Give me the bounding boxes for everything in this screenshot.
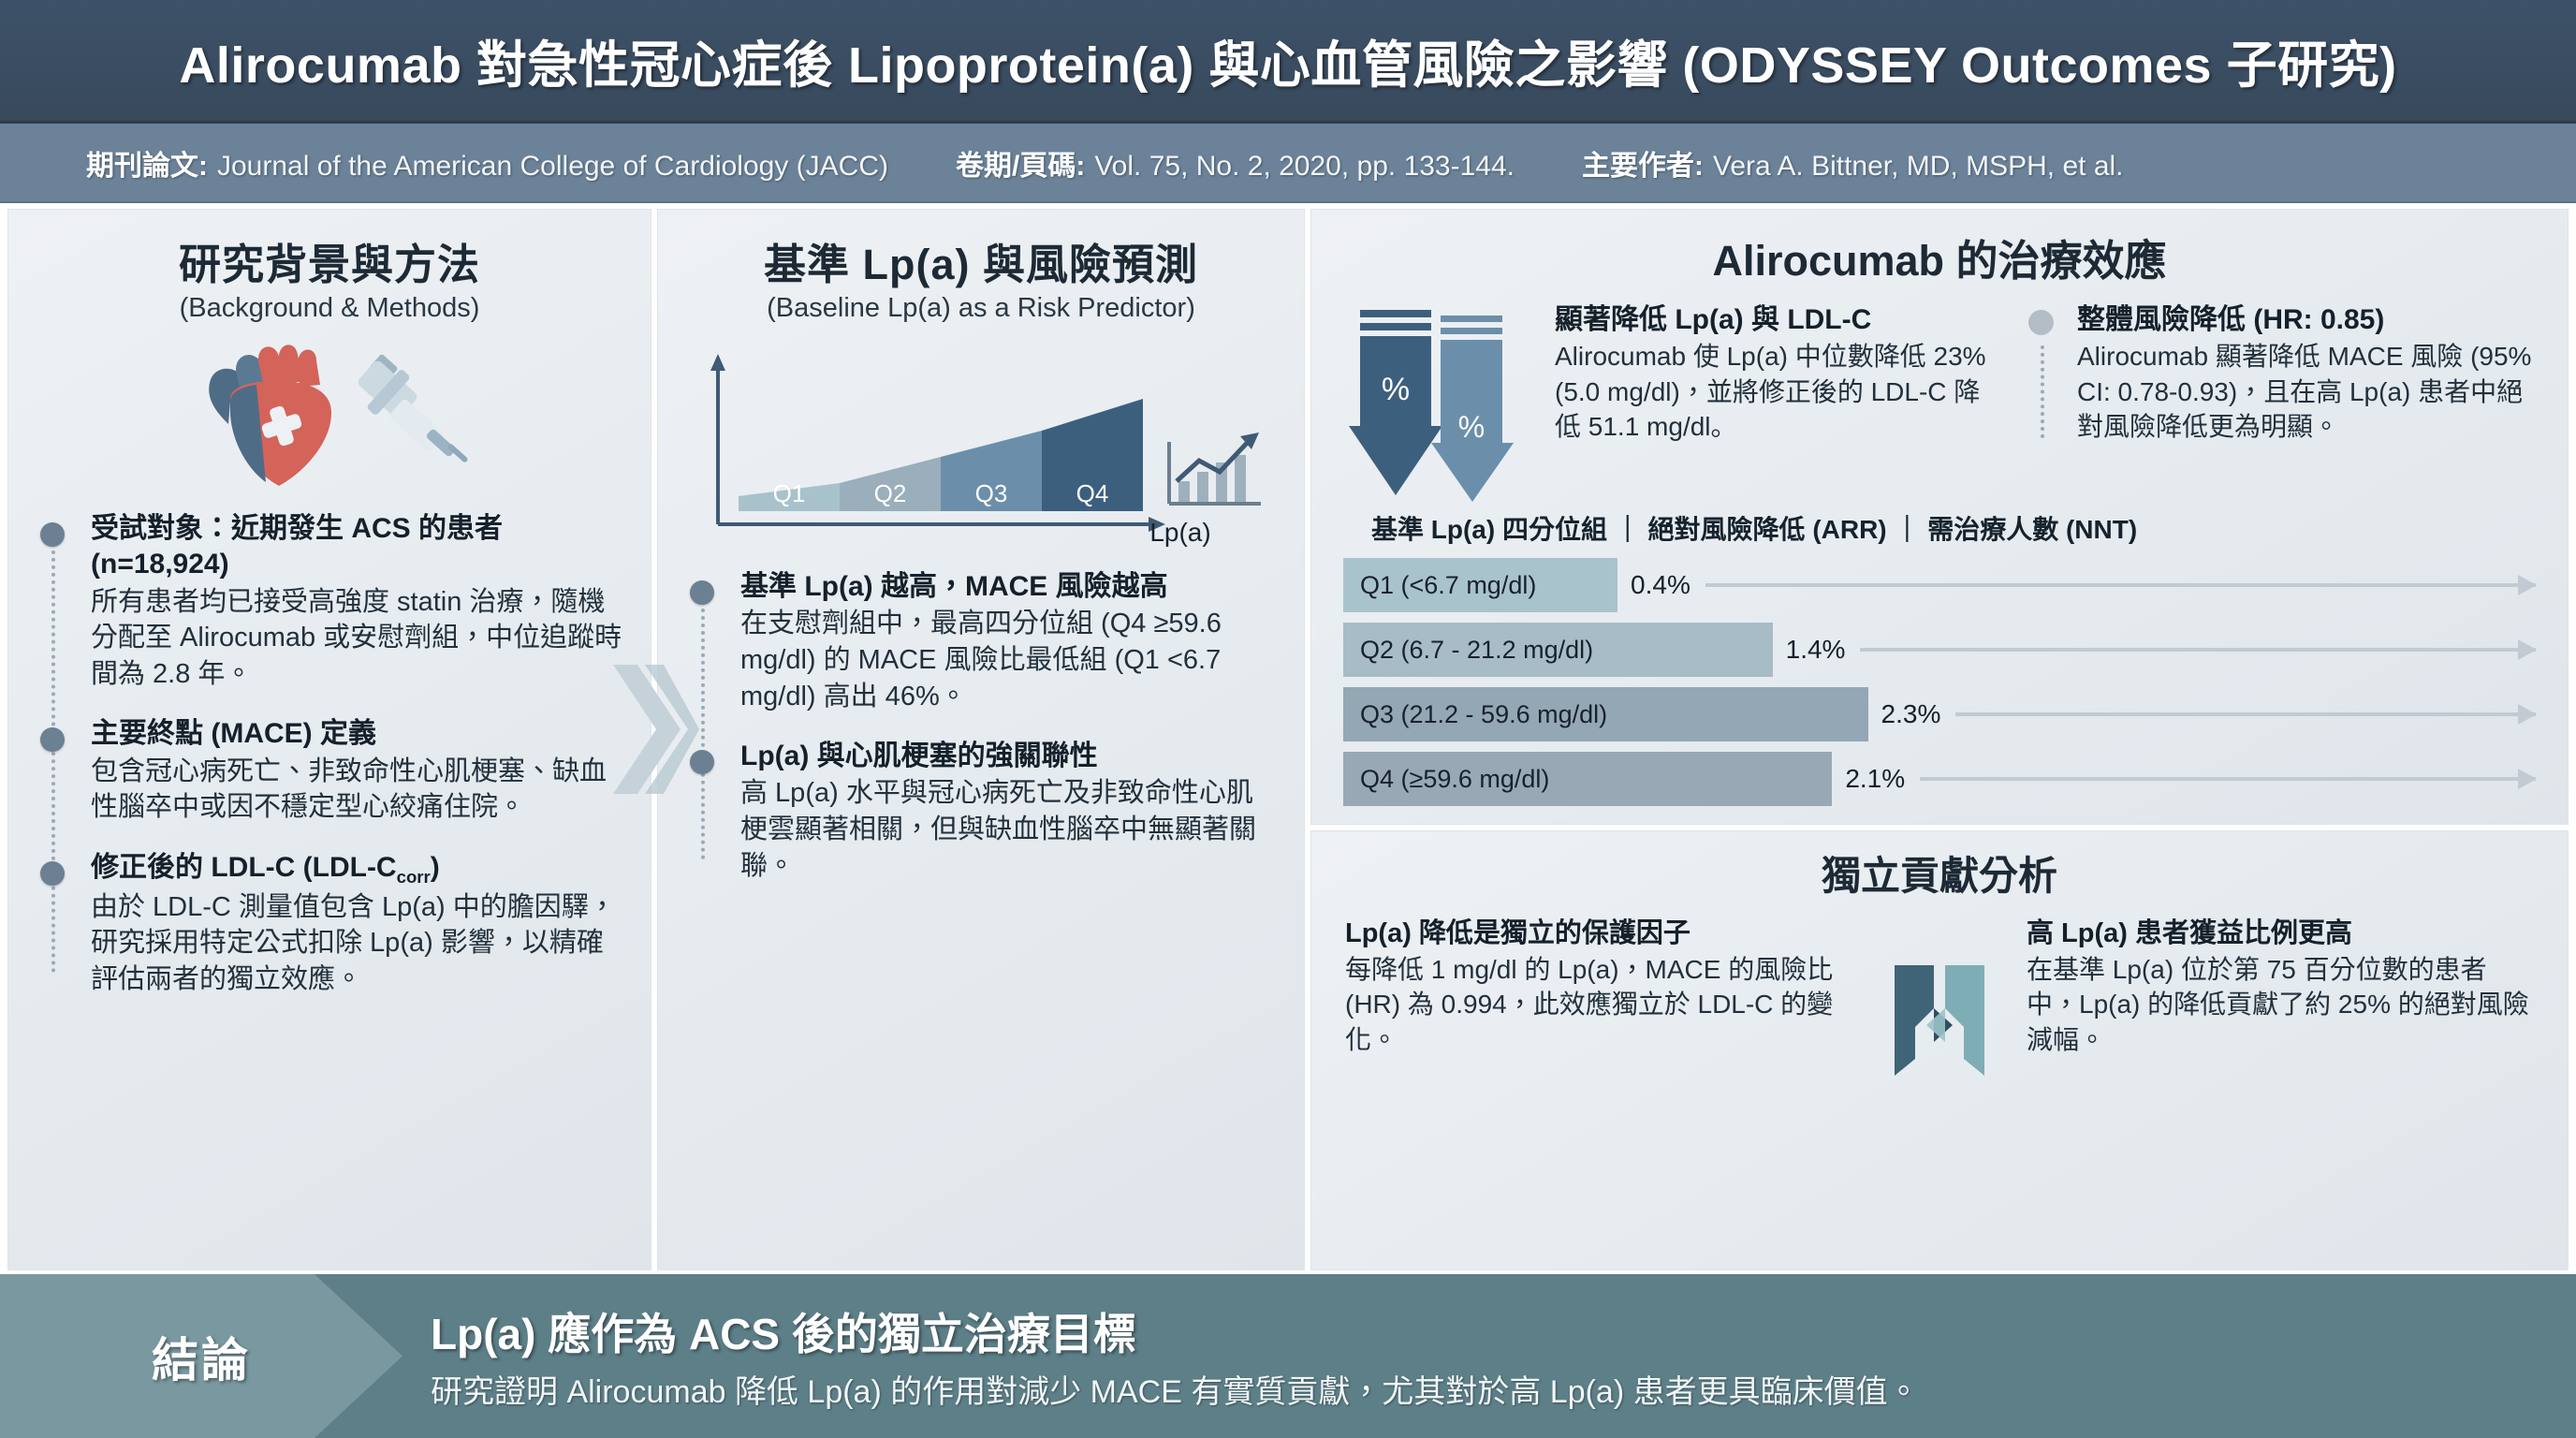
list-item: Lp(a) 與心肌梗塞的強關聯性 高 Lp(a) 水平與冠心病死亡及非致命性心肌… xyxy=(686,739,1276,884)
list-item: 主要終點 (MACE) 定義 包含冠心病死亡、非致命性心肌梗塞、缺血性腦卒中或因… xyxy=(37,716,622,826)
table-row: Q2 (6.7 - 21.2 mg/dl) 1.4% xyxy=(1343,621,2536,679)
block-b-body: Alirocumab 顯著降低 MACE 風險 (95% CI: 0.78-0.… xyxy=(2077,339,2536,444)
bullet-body: 高 Lp(a) 水平與冠心病死亡及非致命性心肌梗雲顯著相關，但與缺血性腦卒中無顯… xyxy=(740,775,1276,884)
bullet-head: 受試對象：近期發生 ACS 的患者 (n=18,924) xyxy=(91,511,622,583)
mid-title-zh: 基準 Lp(a) 與風險預測 xyxy=(686,230,1276,291)
contribution-col-left: Lp(a) 降低是獨立的保護因子 每降低 1 mg/dl 的 Lp(a)，MAC… xyxy=(1345,917,1852,1057)
bullet-body: 由於 LDL-C 測量值包含 Lp(a) 中的膽因驛，研究採用特定公式扣除 Lp… xyxy=(91,889,622,998)
bullet-dot-icon xyxy=(40,522,65,547)
conclusion-text: Lp(a) 應作為 ACS 後的獨立治療目標 研究證明 Alirocumab 降… xyxy=(431,1300,1920,1412)
meta-authors-label: 主要作者: xyxy=(1582,142,1704,183)
bullet-head: 修正後的 LDL-C (LDL-Ccorr) xyxy=(91,850,622,888)
table-cell-arr: 2.3% xyxy=(1881,699,1941,729)
heart-syringe-illustration xyxy=(37,330,622,498)
nnt-arrow-icon xyxy=(1955,712,2536,716)
block-b-head: 整體風險降低 (HR: 0.85) xyxy=(2077,302,2536,338)
right-column: Alirocumab 的治療效應 % xyxy=(1310,209,2569,1270)
mid-bullet-list: 基準 Lp(a) 越高，MACE 風險越高 在支慰劑組中，最高四分位組 (Q4 … xyxy=(686,569,1276,884)
quartile-arr-table: 基準 Lp(a) 四分位組 ｜ 絕對風險降低 (ARR) ｜ 需治療人數 (NN… xyxy=(1343,509,2536,808)
bullet-body: 所有患者均已接受高強度 statin 治療，隨機分配至 Alirocumab 或… xyxy=(91,584,622,693)
independent-contribution-row: Lp(a) 降低是獨立的保護因子 每降低 1 mg/dl 的 Lp(a)，MAC… xyxy=(1345,917,2534,1089)
conclusion-bar: 結論 Lp(a) 應作為 ACS 後的獨立治療目標 研究證明 Alirocuma… xyxy=(0,1274,2576,1438)
contribution-right-head: 高 Lp(a) 患者獲益比例更高 xyxy=(2027,917,2534,951)
ramp-chart-svg: Q1 Q2 Q3 Q4 Lp(a) xyxy=(686,341,1276,551)
bullet-dot-icon xyxy=(40,861,65,886)
table-cell-quartile: Q3 (21.2 - 59.6 mg/dl) xyxy=(1343,687,1868,741)
nnt-arrow-icon xyxy=(1705,583,2536,587)
contribution-left-head: Lp(a) 降低是獨立的保護因子 xyxy=(1345,917,1852,951)
list-item: 受試對象：近期發生 ACS 的患者 (n=18,924) 所有患者均已接受高強度… xyxy=(37,511,622,692)
table-row: Q4 (≥59.6 mg/dl) 2.1% xyxy=(1343,750,2536,808)
meta-authors-value: Vera A. Bittner, MD, MSPH, et al. xyxy=(1713,151,2124,183)
syringe-icon xyxy=(356,353,468,462)
bullet-dot-icon xyxy=(40,727,65,752)
bullet-head: 基準 Lp(a) 越高，MACE 風險越高 xyxy=(740,569,1276,605)
infographic-poster: Alirocumab 對急性冠心症後 Lipoprotein(a) 與心血管風險… xyxy=(0,0,2576,1438)
bullet-body: 包含冠心病死亡、非致命性心肌梗塞、缺血性腦卒中或因不穩定型心絞痛住院。 xyxy=(91,754,622,826)
conclusion-subtitle: 研究證明 Alirocumab 降低 Lp(a) 的作用對減少 MACE 有實質… xyxy=(431,1366,1920,1412)
treatment-effect-block-b: 整體風險降低 (HR: 0.85) Alirocumab 顯著降低 MACE 風… xyxy=(2028,302,2536,444)
nnt-arrow-icon xyxy=(1920,777,2536,781)
bullet-head: 主要終點 (MACE) 定義 xyxy=(91,716,622,752)
list-item: 基準 Lp(a) 越高，MACE 風險越高 在支慰劑組中，最高四分位組 (Q4 … xyxy=(686,569,1276,714)
svg-text:Q3: Q3 xyxy=(975,479,1008,507)
interlocking-chevrons-logo-icon xyxy=(1869,917,2010,1089)
bullet-dot-icon xyxy=(690,750,714,774)
table-cell-arr: 1.4% xyxy=(1786,635,1846,665)
panel-background-methods: 研究背景與方法 (Background & Methods) xyxy=(7,209,651,1270)
svg-text:Q4: Q4 xyxy=(1076,479,1109,507)
block-a-head: 顯著降低 Lp(a) 與 LDL-C xyxy=(1555,302,2004,338)
svg-text:%: % xyxy=(1382,372,1410,407)
bullet-head: Lp(a) 與心肌梗塞的強關聯性 xyxy=(740,739,1276,774)
ramp-xlabel: Lp(a) xyxy=(1149,518,1210,547)
panel-independent-contribution: 獨立貢獻分析 Lp(a) 降低是獨立的保護因子 每降低 1 mg/dl 的 Lp… xyxy=(1310,830,2569,1270)
table-row: Q1 (<6.7 mg/dl) 0.4% xyxy=(1343,556,2536,614)
left-title-zh: 研究背景與方法 xyxy=(37,230,622,291)
table-cell-quartile: Q1 (<6.7 mg/dl) xyxy=(1343,558,1617,612)
nnt-arrow-icon xyxy=(1860,648,2536,652)
meta-journal: 期刊論文: Journal of the American College of… xyxy=(86,142,888,183)
contribution-left-body: 每降低 1 mg/dl 的 Lp(a)，MACE 的風險比 (HR) 為 0.9… xyxy=(1345,952,1852,1057)
panel-baseline-risk: 基準 Lp(a) 與風險預測 (Baseline Lp(a) as a Risk… xyxy=(657,209,1305,1270)
list-item: 修正後的 LDL-C (LDL-Ccorr) 由於 LDL-C 測量值包含 Lp… xyxy=(37,850,622,997)
quartile-ramp-chart: Q1 Q2 Q3 Q4 Lp(a) xyxy=(686,341,1276,556)
mid-section-title: 基準 Lp(a) 與風險預測 (Baseline Lp(a) as a Risk… xyxy=(686,230,1276,324)
panel-treatment-effect: Alirocumab 的治療效應 % xyxy=(1310,209,2569,825)
meta-journal-value: Journal of the American College of Cardi… xyxy=(217,151,888,183)
table-cell-arr: 2.1% xyxy=(1845,764,1905,794)
trend-up-chart-icon xyxy=(1169,433,1261,504)
treatment-effect-block-a: 顯著降低 Lp(a) 與 LDL-C Alirocumab 使 Lp(a) 中位… xyxy=(1555,302,2004,444)
meta-volume: 卷期/頁碼: Vol. 75, No. 2, 2020, pp. 133-144… xyxy=(956,142,1515,183)
table-cell-arr: 0.4% xyxy=(1631,570,1690,600)
meta-authors: 主要作者: Vera A. Bittner, MD, MSPH, et al. xyxy=(1582,142,2124,183)
contribution-right-body: 在基準 Lp(a) 位於第 75 百分位數的患者中，Lp(a) 的降低貢獻了約 … xyxy=(2027,952,2534,1057)
left-bullet-list: 受試對象：近期發生 ACS 的患者 (n=18,924) 所有患者均已接受高強度… xyxy=(37,511,622,997)
treatment-effect-row: % % 顯著降低 Lp(a) 與 LDL-C Alirocumab 使 Lp(a… xyxy=(1343,302,2536,504)
conclusion-badge-label: 結論 xyxy=(152,1323,251,1390)
right-top-title: Alirocumab 的治療效應 xyxy=(1343,227,2536,287)
svg-text:%: % xyxy=(1458,410,1485,444)
conclusion-title: Lp(a) 應作為 ACS 後的獨立治療目標 xyxy=(431,1300,1920,1362)
conclusion-badge: 結論 xyxy=(0,1274,402,1438)
meta-volume-value: Vol. 75, No. 2, 2020, pp. 133-144. xyxy=(1094,151,1515,183)
bullet-dot-icon xyxy=(2028,310,2054,335)
bullet-body: 在支慰劑組中，最高四分位組 (Q4 ≥59.6 mg/dl) 的 MACE 風險… xyxy=(740,606,1276,714)
table-cell-quartile: Q2 (6.7 - 21.2 mg/dl) xyxy=(1343,623,1773,677)
poster-header: Alirocumab 對急性冠心症後 Lipoprotein(a) 與心血管風險… xyxy=(0,0,2576,124)
svg-text:Q1: Q1 xyxy=(773,479,806,507)
heart-icon xyxy=(189,332,470,496)
poster-body: 研究背景與方法 (Background & Methods) xyxy=(0,203,2576,1274)
block-a-body: Alirocumab 使 Lp(a) 中位數降低 23% (5.0 mg/dl)… xyxy=(1555,339,2004,444)
contribution-col-right: 高 Lp(a) 患者獲益比例更高 在基準 Lp(a) 位於第 75 百分位數的患… xyxy=(2027,917,2534,1057)
table-cell-quartile: Q4 (≥59.6 mg/dl) xyxy=(1343,752,1832,806)
table-row: Q3 (21.2 - 59.6 mg/dl) 2.3% xyxy=(1343,685,2536,743)
double-down-arrow-percent-icon: % % xyxy=(1343,302,1530,504)
left-section-title: 研究背景與方法 (Background & Methods) xyxy=(37,230,622,324)
right-bottom-title: 獨立貢獻分析 xyxy=(1345,844,2534,902)
meta-journal-label: 期刊論文: xyxy=(86,142,208,183)
metadata-bar: 期刊論文: Journal of the American College of… xyxy=(0,124,2576,203)
mid-title-en: (Baseline Lp(a) as a Risk Predictor) xyxy=(686,293,1276,324)
table-header: 基準 Lp(a) 四分位組 ｜ 絕對風險降低 (ARR) ｜ 需治療人數 (NN… xyxy=(1371,509,2536,547)
page-title: Alirocumab 對急性冠心症後 Lipoprotein(a) 與心血管風險… xyxy=(179,23,2396,97)
svg-text:Q2: Q2 xyxy=(874,479,907,507)
bullet-dot-icon xyxy=(690,580,714,605)
left-title-en: (Background & Methods) xyxy=(37,293,622,324)
meta-volume-label: 卷期/頁碼: xyxy=(956,142,1085,183)
